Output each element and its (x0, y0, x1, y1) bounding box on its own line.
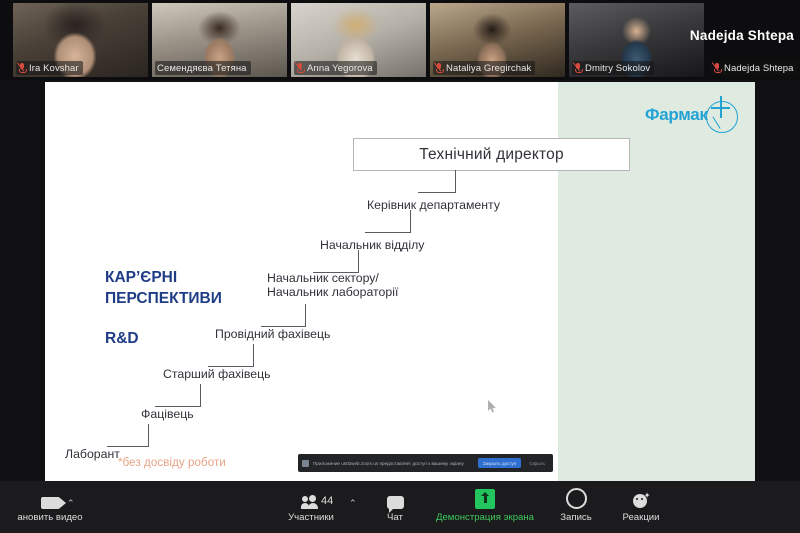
step-riser (305, 304, 306, 326)
participant-name: Dmitry Sokolov (585, 63, 650, 74)
step-riser (410, 210, 411, 232)
mic-off-icon (574, 63, 582, 73)
toolbar-item-chat[interactable]: Чат (360, 487, 430, 523)
toolbar-label: Чат (387, 512, 403, 523)
panel-heading-block: КАР’ЄРНІ ПЕРСПЕКТИВИ R&D (105, 267, 222, 349)
share-notification-message: Приложение us02web.zoom.us предоставляет… (313, 461, 474, 466)
zoom-app-icon (302, 460, 309, 467)
share-screen-icon (475, 487, 495, 509)
video-tile[interactable]: Ira Kovshar (13, 3, 148, 77)
step-riser (253, 344, 254, 366)
chat-icon (387, 487, 404, 509)
participant-name: Ira Kovshar (29, 63, 79, 74)
hide-notification-button[interactable]: Скрыть (525, 461, 549, 466)
video-filmstrip: Ira Kovshar Семендяєва Тетяна Anna Yegor… (0, 0, 800, 80)
camera-icon (41, 487, 60, 509)
participant-name-badge: Dmitry Sokolov (572, 61, 654, 75)
step-tread (418, 192, 456, 193)
step-label-fatsivets: Фацівець (141, 407, 194, 421)
mouse-cursor (488, 400, 497, 413)
toolbar-label: Реакции (622, 512, 659, 523)
toolbar-item-record[interactable]: Запись (540, 487, 612, 523)
toolbar-item-participants[interactable]: Участники (261, 487, 361, 523)
participant-name: Nataliya Gregirchak (446, 63, 531, 74)
step-label-kerivnyk-departamentu: Керівник департаменту (367, 198, 500, 212)
toolbar-item-stop-video[interactable]: ановить видео (0, 487, 100, 523)
video-tile[interactable]: Anna Yegorova (291, 3, 426, 77)
farmak-logo-text: Фармак (645, 105, 708, 125)
participant-name-badge: Семендяєва Тетяна (155, 61, 251, 75)
self-display-name: Nadejda Shtepa (690, 28, 794, 43)
logo-cross-icon (711, 107, 730, 109)
toolbar-label: Запись (560, 512, 591, 523)
step-label-nachalnyk-sektoru: Начальник сектору/ Начальник лабораторії (267, 271, 398, 299)
video-tile[interactable]: Nataliya Gregirchak (430, 3, 565, 77)
meeting-toolbar: ановить видео ⌃ Участники 44 ⌃ Чат Демон… (0, 481, 800, 533)
toolbar-item-share-screen[interactable]: Демонстрация экрана (425, 487, 545, 523)
panel-heading-line2: ПЕРСПЕКТИВИ (105, 288, 222, 309)
reactions-icon: ✦ (633, 487, 650, 509)
step-riser (358, 250, 359, 272)
step-label-starshyi-fakhivets: Старший фахівець (163, 367, 271, 381)
panel-subheading: R&D (105, 328, 222, 349)
participants-icon (301, 487, 321, 509)
participant-name: Anna Yegorova (307, 63, 373, 74)
title-box: Технічний директор (353, 138, 630, 171)
mic-off-icon (713, 63, 721, 73)
toolbar-label: Демонстрация экрана (436, 512, 534, 523)
participant-name-badge: Nataliya Gregirchak (433, 61, 535, 75)
farmak-logo: Фармак (645, 96, 740, 138)
chevron-up-icon-participants[interactable]: ⌃ (349, 499, 357, 508)
footnote-no-experience: *без досвіду роботи (118, 457, 226, 469)
participant-name: Семендяєва Тетяна (157, 63, 247, 74)
zoom-meeting-window: Ira Kovshar Семендяєва Тетяна Anna Yegor… (0, 0, 800, 533)
video-tile[interactable]: Dmitry Sokolov (569, 3, 704, 77)
mic-off-icon (435, 63, 443, 73)
record-icon (566, 487, 587, 509)
participant-name: Nadejda Shtepa (724, 63, 794, 74)
mic-off-icon (18, 63, 26, 73)
step-label-laborant: Лаборант (65, 447, 120, 461)
participant-count: 44 (321, 495, 333, 507)
video-tile[interactable]: Семендяєва Тетяна (152, 3, 287, 77)
toolbar-item-reactions[interactable]: ✦ Реакции (605, 487, 677, 523)
step-riser (200, 384, 201, 406)
mic-off-icon (296, 63, 304, 73)
toolbar-label: ановить видео (17, 512, 82, 523)
step-label-nachalnyk-viddilu: Начальник відділу (320, 238, 424, 252)
shared-screen-slide: Фармак Технічний директор Керівник депар… (45, 82, 755, 481)
stop-sharing-button[interactable]: Закрыть доступ (478, 458, 521, 468)
title-box-label: Технічний директор (419, 146, 564, 164)
chevron-up-icon-video[interactable]: ⌃ (67, 499, 75, 508)
participant-name-badge: Ira Kovshar (16, 61, 83, 75)
participant-name-badge: Nadejda Shtepa (711, 61, 798, 75)
toolbar-label: Участники (288, 512, 334, 523)
participant-name-badge: Anna Yegorova (294, 61, 377, 75)
step-tread (365, 232, 411, 233)
panel-heading-line1: КАР’ЄРНІ (105, 267, 222, 288)
step-riser (455, 170, 456, 192)
step-label-providnyi-fakhivets: Провідний фахівець (215, 327, 330, 341)
step-riser (148, 424, 149, 446)
screen-share-notification: Приложение us02web.zoom.us предоставляет… (298, 454, 553, 472)
